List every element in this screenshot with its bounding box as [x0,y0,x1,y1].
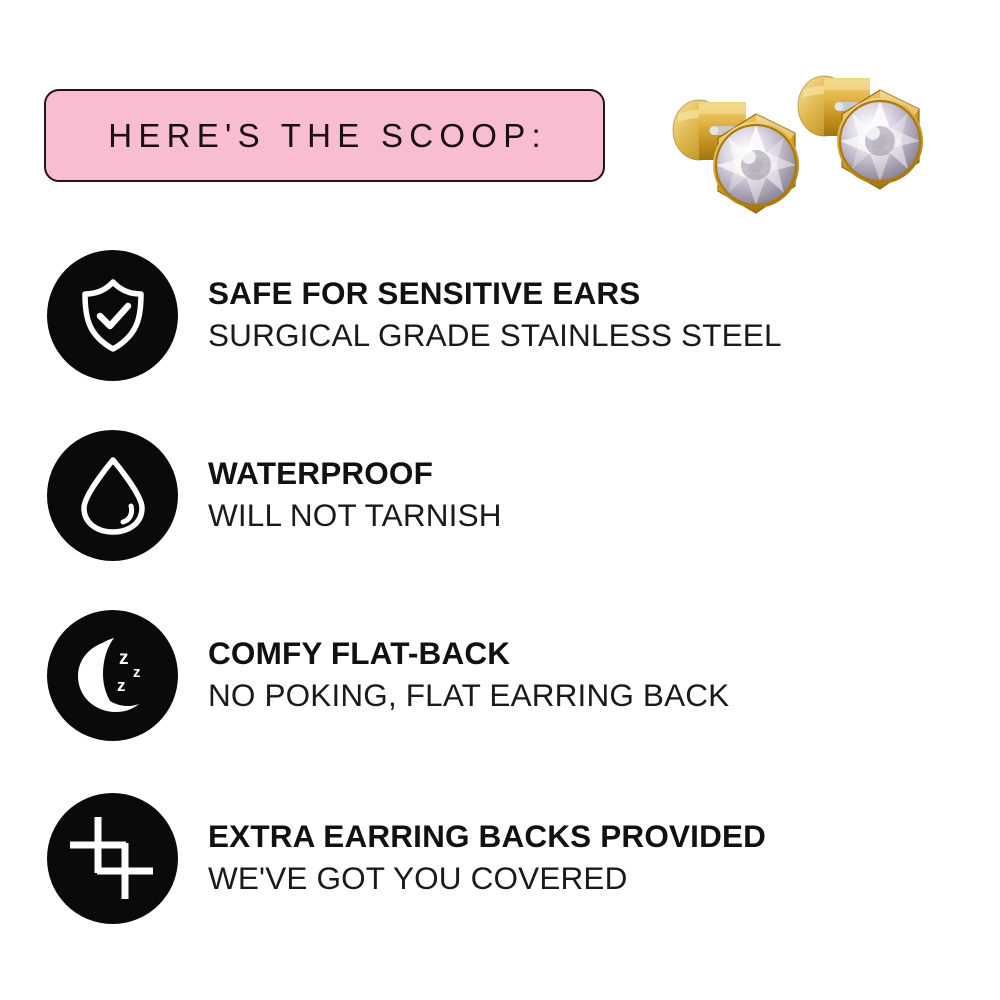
feature-text-block: WATERPROOF WILL NOT TARNISH [208,455,502,536]
feature-title: EXTRA EARRING BACKS PROVIDED [208,818,766,855]
svg-text:z: z [119,648,129,669]
double-plus-icon [47,793,178,924]
water-drop-icon [47,430,178,561]
earring-back-left [673,100,799,213]
feature-text-block: COMFY FLAT-BACK NO POKING, FLAT EARRING … [208,635,729,716]
feature-title: WATERPROOF [208,455,502,492]
feature-subtitle: WE'VE GOT YOU COVERED [208,859,766,898]
feature-subtitle: WILL NOT TARNISH [208,496,502,535]
feature-row: z z z COMFY FLAT-BACK NO POKING, FLAT EA… [47,609,947,741]
feature-row: WATERPROOF WILL NOT TARNISH [47,429,947,561]
moon-zzz-icon: z z z [47,610,178,741]
feature-row: SAFE FOR SENSITIVE EARS SURGICAL GRADE S… [47,249,947,381]
feature-text-block: SAFE FOR SENSITIVE EARS SURGICAL GRADE S… [208,275,782,356]
scoop-header-badge: HERE'S THE SCOOP: [44,89,605,182]
feature-subtitle: NO POKING, FLAT EARRING BACK [208,676,729,715]
feature-text-block: EXTRA EARRING BACKS PROVIDED WE'VE GOT Y… [208,818,766,899]
shield-check-icon [47,250,178,381]
feature-row: EXTRA EARRING BACKS PROVIDED WE'VE GOT Y… [47,792,947,924]
earrings-illustration [648,38,968,243]
earring-front-right [798,76,923,189]
feature-title: SAFE FOR SENSITIVE EARS [208,275,782,312]
feature-subtitle: SURGICAL GRADE STAINLESS STEEL [208,316,782,355]
svg-text:z: z [117,676,126,695]
feature-title: COMFY FLAT-BACK [208,635,729,672]
product-image-gold-stud-earrings [648,38,968,243]
svg-text:z: z [133,664,141,681]
scoop-header-label: HERE'S THE SCOOP: [102,117,547,155]
